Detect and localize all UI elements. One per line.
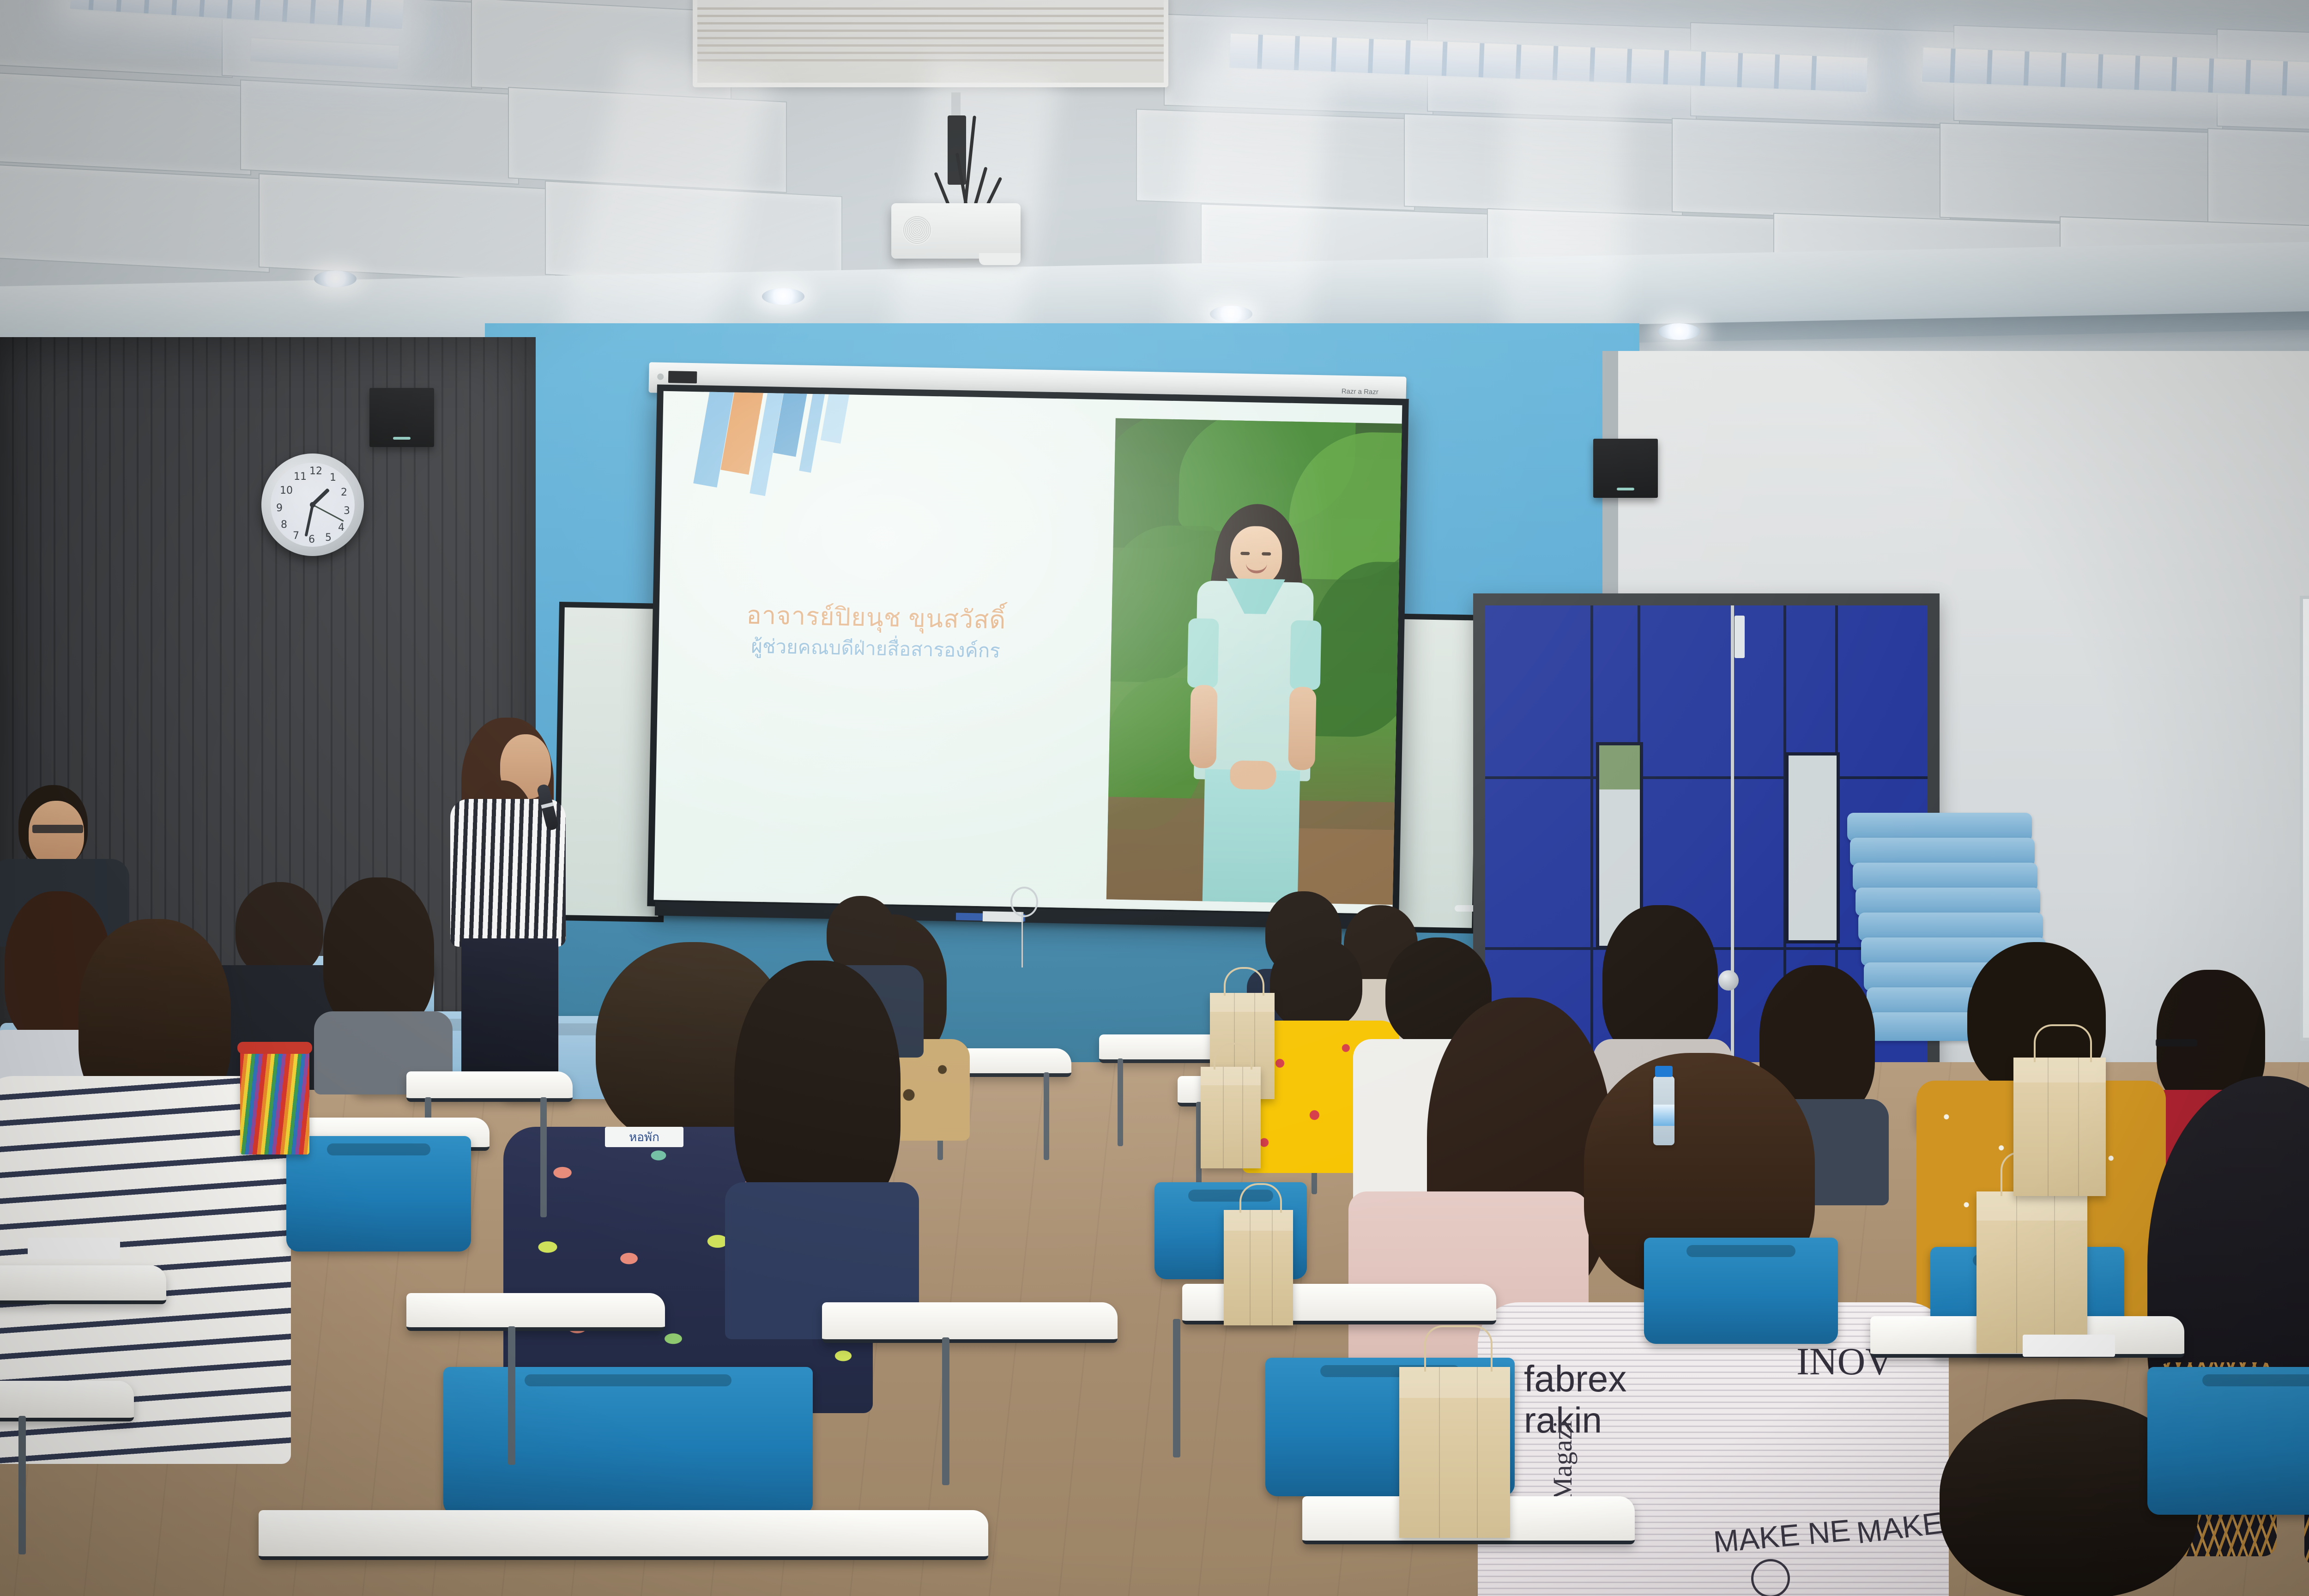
clock-numeral: 6: [308, 534, 315, 545]
eyeglasses-icon: [32, 825, 83, 833]
clock-numeral: 11: [294, 471, 307, 483]
classroom-photo-scene: 12 1 2 3 4 5 6 7 8 9 10 11 Razr a Razr: [0, 0, 2309, 1596]
slide-decoration-ribbon: [821, 391, 851, 444]
chair-back-label: หอพัก: [605, 1127, 683, 1147]
clock-numeral: 4: [338, 522, 345, 533]
air-conditioning-diffuser-icon: [693, 0, 1168, 87]
shirt-text: MAKE NE: [1712, 1512, 1852, 1560]
rainbow-tote-bag: [240, 1048, 309, 1155]
smiley-icon: [1751, 1559, 1790, 1596]
presenter: [450, 730, 570, 1081]
chair-back-label: [28, 1238, 120, 1259]
gift-bag: [1201, 1067, 1261, 1168]
projection-screen: อาจารย์ปิยนุช ขุนสวัสดิ์ ผู้ช่วยคณบดีฝ่า…: [647, 384, 1408, 920]
screen-right-label: Razr a Razr: [1342, 387, 1378, 396]
door-latch-icon: [1735, 616, 1745, 658]
slide-portrait-photo: [1106, 418, 1402, 905]
clock-center-pin: [310, 502, 315, 508]
downlight-icon: [314, 271, 357, 287]
desk-tablet-arm: [0, 1265, 166, 1304]
audience-member: [725, 961, 919, 1330]
wall-speaker-icon: [1593, 439, 1658, 498]
chair[interactable]: [1644, 1238, 1838, 1344]
clock-numeral: 1: [330, 472, 336, 484]
shirt-text: fabrex: [1524, 1358, 1626, 1400]
clock-second-hand: [312, 504, 344, 522]
gift-bag: [1399, 1367, 1510, 1538]
screen-pull-ring[interactable]: [1010, 887, 1038, 917]
desk-tablet-arm: [406, 1293, 665, 1331]
chair[interactable]: [2147, 1367, 2309, 1515]
clock-numeral: 10: [280, 485, 293, 496]
downlight-icon: [1658, 323, 1700, 340]
door-vision-panel: [1785, 752, 1840, 943]
projector: [891, 203, 1021, 259]
presentation-slide: อาจารย์ปิยนุช ขุนสวัสดิ์ ผู้ช่วยคณบดีฝ่า…: [654, 391, 1402, 914]
downlight-icon: [762, 288, 804, 305]
bottle-cap-icon: [1655, 1066, 1673, 1077]
desk-tablet-arm: [822, 1302, 1118, 1343]
clock-numeral: 9: [276, 502, 283, 514]
whiteboard: [2300, 596, 2309, 1041]
screen-brand-badge: [668, 371, 697, 383]
clock-numeral: 2: [341, 487, 347, 498]
clock-numeral: 8: [281, 519, 287, 531]
portrait-figure: [1176, 512, 1331, 902]
water-bottle: [1653, 1076, 1674, 1145]
chair[interactable]: [443, 1367, 813, 1515]
downlight-icon: [1210, 306, 1252, 322]
chair[interactable]: [286, 1136, 471, 1251]
desk-tablet-arm: [0, 1381, 134, 1421]
projector-mount-plate: [948, 115, 966, 185]
wall-speaker-icon: [369, 388, 434, 447]
projector-lens-icon: [979, 253, 1021, 265]
clock-numeral: 5: [325, 532, 332, 544]
clock-minute-hand: [305, 504, 314, 537]
desk-tablet-arm: [259, 1510, 988, 1560]
gift-bag: [2013, 1058, 2106, 1196]
shirt-text: Magazi: [1547, 1421, 1578, 1501]
screen-pull-cord[interactable]: [1022, 912, 1023, 967]
audience-member: [319, 877, 448, 1062]
desk-tablet-arm: [406, 1071, 573, 1102]
clock-numeral: 3: [344, 505, 350, 517]
chair-back-label: [2023, 1335, 2115, 1357]
clock-numeral: 7: [293, 530, 299, 542]
wall-clock: 12 1 2 3 4 5 6 7 8 9 10 11: [261, 453, 364, 556]
gift-bag: [1977, 1191, 2087, 1353]
bottle-label: [1653, 1105, 1674, 1126]
clock-numeral: 12: [309, 465, 322, 477]
slide-subtitle: ผู้ช่วยคณบดีฝ่ายสื่อสารองค์กร: [732, 631, 1019, 667]
gift-bag: [1224, 1210, 1293, 1325]
